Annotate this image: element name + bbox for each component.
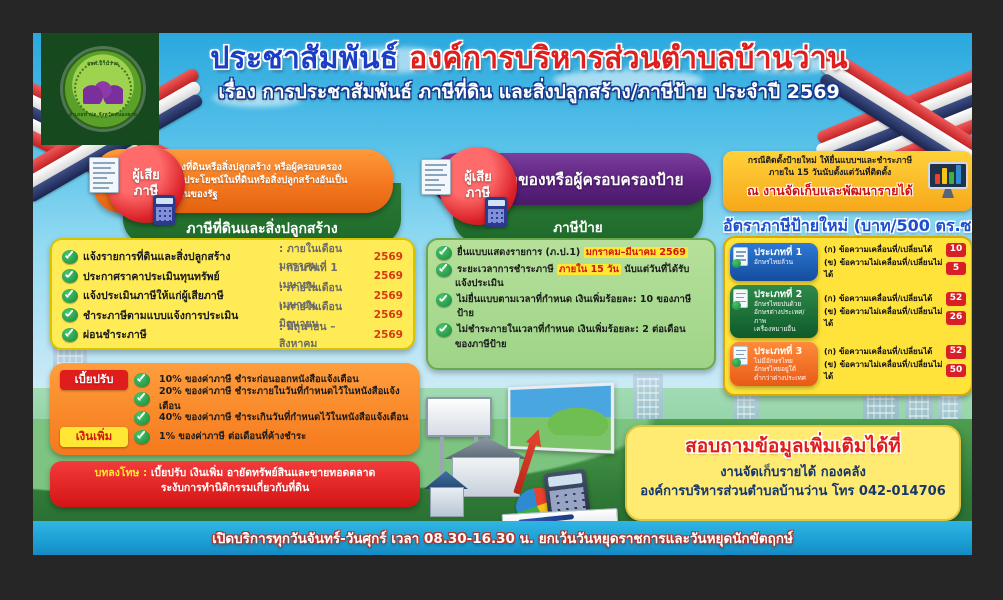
penalty-text: 40% ของค่าภาษี ชำระเกินวันที่กำหนดไว้ในห… [155,410,412,425]
seal-top-text: อบต.บ้านว่าน [65,60,141,68]
check-icon [134,411,150,425]
rule-text: ยื่นแบบแสดงรายการ (ภ.ป.1) [457,247,580,258]
rate-label: (ก) ข้อความเคลื่อนที่/เปลี่ยนได้ [824,244,943,256]
table-row: ผ่อนชำระภาษี : มิถุนายน – สิงหาคม 2569 [62,325,403,345]
punishment-label: บทลงโทษ : [95,467,148,479]
chart-monitor-icon [928,162,968,198]
title-main-blue: ประชาสัมพันธ์ [210,41,398,76]
sign-taxpayer-text: เจ้าของหรือผู้ครอบครองป้าย [495,167,684,192]
contact-line-1: งานจัดเก็บรายได้ กองคลัง [633,464,953,483]
rate-line: (ก) ข้อความเคลื่อนที่/เปลี่ยนได้ 10 [824,243,966,257]
schedule-year: 2569 [369,270,403,282]
list-item-continuation: แจ้งประเมิน [436,277,706,291]
list-item: 20% ของค่าภาษี ชำระภายในวันที่กำหนดไว้ใน… [60,389,412,408]
sign-tax-category-label: ภาษีป้าย [553,216,602,238]
rule-highlight: ภายใน 15 วัน [557,264,621,275]
rate-type-subtitle: อักษรไทยปนด้วย [754,300,814,308]
land-taxpayer-badge-line-1: ผู้เสีย [132,168,160,184]
rate-line: (ข) ข้อความไม่เคลื่อนที่/เปลี่ยนไม่ได้ 5 [824,257,966,281]
check-icon [62,308,78,322]
rate-type-badge: ประเภทที่ 1 อักษรไทยล้วน [730,243,818,281]
check-icon [62,250,78,264]
rate-value: 52 [946,345,966,359]
logo-backdrop: อบต.บ้านว่าน อำเภอท่าบ่อ จังหวัดหนองคาย [41,33,159,145]
rate-value: 52 [946,292,966,306]
list-item: ยื่นแบบแสดงรายการ (ภ.ป.1) มกราคม–มีนาคม … [436,246,706,260]
check-icon [134,392,150,406]
rate-type-subtitle: อักษรไทยล้วน [754,258,814,266]
notice-line-2: ภายใน 15 วันนับตั้งแต่วันที่ติดตั้ง [731,168,929,180]
temple-emblem-icon [83,78,123,104]
rate-type-subtitle: เครื่องหมายอื่น [754,325,814,333]
check-icon [62,328,78,342]
punishment-line-2: ระงับการทำนิติกรรมเกี่ยวกับที่ดิน [58,481,412,496]
rate-label: (ข) ข้อความไม่เคลื่อนที่/เปลี่ยนไม่ได้ [824,257,943,281]
schedule-name: ประกาศราคาประเมินทุนทรัพย์ [83,268,279,285]
notice-line-1: กรณีติดตั้งป้ายใหม่ ให้ยื่นแบบฯและชำระภา… [731,156,929,168]
page-title: ประชาสัมพันธ์ องค์การบริหารส่วนตำบลบ้านว… [159,43,899,107]
rate-line: (ข) ข้อความไม่เคลื่อนที่/เปลี่ยนไม่ได้ 5… [824,359,966,383]
rate-type-badge: ประเภทที่ 2 อักษรไทยปนด้วย อักษรต่างประเ… [730,285,818,338]
rate-type-subtitle: ต่ำกว่าต่างประเทศ [754,374,814,382]
rate-value: 26 [946,311,966,325]
land-tax-schedule-card: แจ้งรายการที่ดินและสิ่งปลูกสร้าง : ภายใน… [50,238,415,350]
list-item: 40% ของค่าภาษี ชำระเกินวันที่กำหนดไว้ในห… [60,408,412,427]
rule-text-after: นับแต่วันที่ได้รับ [624,264,689,275]
penalty-text: 1% ของค่าภาษี ต่อเดือนที่ค้างชำระ [155,429,412,444]
schedule-name: แจ้งประเมินภาษีให้แก่ผู้เสียภาษี [83,287,279,304]
schedule-year: 2569 [369,251,403,263]
rate-type-badge: ประเภทที่ 3 ไม่มีอักษรไทย อักษรไทยอยู่ใต… [730,342,818,387]
clipboard-check-icon [733,289,748,308]
sign-rate-title: อัตราภาษีป้ายใหม่ (บาท/500 ตร.ซม.) [723,214,972,239]
schedule-name: แจ้งรายการที่ดินและสิ่งปลูกสร้าง [83,248,279,265]
rate-label: (ข) ข้อความไม่เคลื่อนที่/เปลี่ยนไม่ได้ [824,306,943,330]
rate-type-subtitle: อักษรไทยอยู่ใต้ [754,365,814,373]
poster-canvas: อบต.บ้านว่าน อำเภอท่าบ่อ จังหวัดหนองคาย … [33,33,972,555]
rate-type-row: ประเภทที่ 3 ไม่มีอักษรไทย อักษรไทยอยู่ใต… [730,342,966,387]
clipboard-check-icon [733,247,748,266]
penalty-fine-label: เบี้ยปรับ [60,370,128,390]
rate-line: (ก) ข้อความเคลื่อนที่/เปลี่ยนได้ 52 [824,345,966,359]
rate-value: 10 [946,243,966,257]
rate-type-title: ประเภทที่ 1 [754,247,814,258]
penalty-surcharge-label: เงินเพิ่ม [60,427,128,447]
new-sign-notice-box: กรณีติดตั้งป้ายใหม่ ให้ยื่นแบบฯและชำระภา… [723,151,972,211]
rate-type-title: ประเภทที่ 3 [754,346,814,357]
contact-card: สอบถามข้อมูลเพิ่มเติมได้ที่ งานจัดเก็บรา… [625,425,961,521]
billboard-icon [426,397,492,437]
tax-form-document-icon [89,157,119,193]
check-icon [436,293,452,307]
rate-line: (ข) ข้อความไม่เคลื่อนที่/เปลี่ยนไม่ได้ 2… [824,306,966,330]
sign-taxpayer-badge-line-1: ผู้เสีย [464,170,492,186]
seal-bottom-text: อำเภอท่าบ่อ จังหวัดหนองคาย [65,111,141,119]
schedule-name: ผ่อนชำระภาษี [83,326,279,343]
check-icon [134,373,150,387]
list-item: ระยะเวลาการชำระภาษี ภายใน 15 วัน นับแต่ว… [436,263,706,277]
land-taxpayer-line-1: เจ้าของที่ดินหรือสิ่งปลูกสร้าง หรือผู้คร… [155,161,348,174]
schedule-year: 2569 [369,290,403,302]
rate-value: 5 [946,262,966,276]
tax-form-document-icon [421,159,451,195]
check-icon [436,246,452,260]
municipality-seal-logo: อบต.บ้านว่าน อำเภอท่าบ่อ จังหวัดหนองคาย [63,49,143,129]
title-main-red: องค์การบริหารส่วนตำบลบ้านว่าน [409,41,848,76]
sign-tax-rate-card: ประเภทที่ 1 อักษรไทยล้วน (ก) ข้อความเคลื… [723,236,972,396]
billboard-photo-icon [508,382,614,453]
list-item: เงินเพิ่ม 1% ของค่าภาษี ต่อเดือนที่ค้างช… [60,427,412,446]
penalty-text: 20% ของค่าภาษี ชำระภายในวันที่กำหนดไว้ใน… [155,384,412,414]
rate-type-subtitle: ไม่มีอักษรไทย [754,357,814,365]
list-item-continuation: ของภาษีป้าย [436,338,706,352]
notice-line-3: ณ งานจัดเก็บและพัฒนารายได้ [731,181,929,201]
rate-label: (ก) ข้อความเคลื่อนที่/เปลี่ยนได้ [824,293,943,305]
title-subtitle: เรื่อง การประชาสัมพันธ์ ภาษีที่ดิน และสิ… [159,77,899,107]
rule-text: ของภาษีป้าย [455,338,706,352]
service-hours-text: เปิดบริการทุกวันจันทร์-วันศุกร์ เวลา 08.… [212,527,793,549]
rule-text: ไม่ชำระภายในเวลาที่กำหนด เงินเพิ่มร้อยละ… [457,323,706,337]
clipboard-check-icon [733,346,748,365]
land-tax-category-label: ภาษีที่ดินและสิ่งปลูกสร้าง [186,218,337,240]
rule-text: ไม่ยื่นแบบตามเวลาที่กำหนด เงินเพิ่มร้อยล… [457,293,706,321]
calculator-icon [153,195,175,225]
punishment-line-1: เบี้ยปรับ เงินเพิ่ม อายัดทรัพย์สินและขาย… [147,467,375,479]
schedule-name: ชำระภาษีตามแบบแจ้งการประเมิน [83,307,279,324]
schedule-year: 2569 [369,309,403,321]
rule-highlight: มกราคม–มีนาคม 2569 [584,247,688,258]
punishment-card: บทลงโทษ : เบี้ยปรับ เงินเพิ่ม อายัดทรัพย… [50,461,420,507]
rate-label: (ก) ข้อความเคลื่อนที่/เปลี่ยนได้ [824,346,943,358]
check-icon [134,430,150,444]
sign-tax-rules-card: ยื่นแบบแสดงรายการ (ภ.ป.1) มกราคม–มีนาคม … [426,238,716,370]
rule-text: แจ้งประเมิน [455,277,706,291]
check-icon [436,263,452,277]
schedule-year: 2569 [369,329,403,341]
rate-value: 50 [946,364,966,378]
service-hours-bar: เปิดบริการทุกวันจันทร์-วันศุกร์ เวลา 08.… [33,521,972,555]
list-item: ไม่ยื่นแบบตามเวลาที่กำหนด เงินเพิ่มร้อยล… [436,293,706,321]
rate-type-subtitle: อักษรต่างประเทศ/ภาพ [754,308,814,325]
rule-text: ระยะเวลาการชำระภาษี [457,264,554,275]
rate-line: (ก) ข้อความเคลื่อนที่/เปลี่ยนได้ 52 [824,292,966,306]
list-item: ไม่ชำระภายในเวลาที่กำหนด เงินเพิ่มร้อยละ… [436,323,706,337]
check-icon [62,269,78,283]
contact-line-2: องค์การบริหารส่วนตำบลบ้านว่าน โทร 042-01… [633,483,953,502]
penalty-card: เบี้ยปรับ 10% ของค่าภาษี ชำระก่อนออกหนัง… [50,363,420,455]
check-icon [436,323,452,337]
calculator-icon [485,197,507,227]
check-icon [62,289,78,303]
rate-type-row: ประเภทที่ 1 อักษรไทยล้วน (ก) ข้อความเคลื… [730,243,966,281]
rate-label: (ข) ข้อความไม่เคลื่อนที่/เปลี่ยนไม่ได้ [824,359,943,383]
rate-type-row: ประเภทที่ 2 อักษรไทยปนด้วย อักษรต่างประเ… [730,285,966,338]
contact-heading: สอบถามข้อมูลเพิ่มเติมได้ที่ [633,435,953,458]
rate-type-title: ประเภทที่ 2 [754,289,814,300]
schedule-date: : มิถุนายน – สิงหาคม [279,318,369,352]
